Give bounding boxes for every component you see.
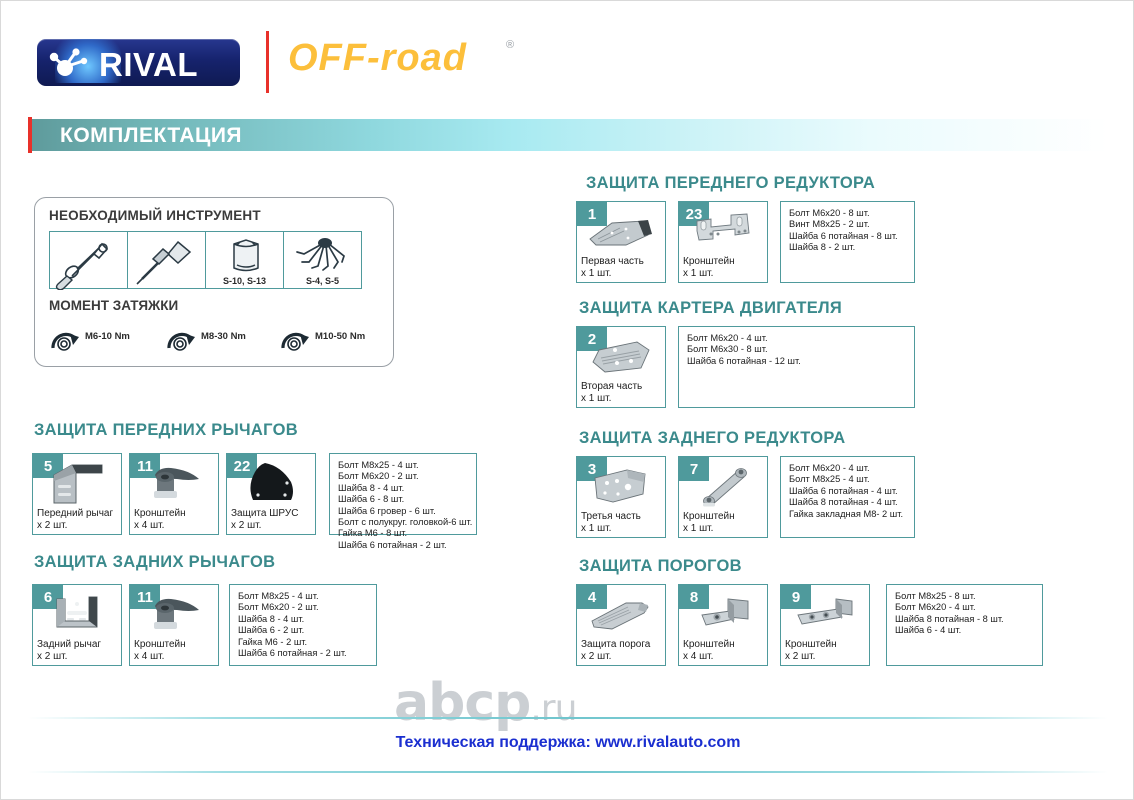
cam-bracket-icon (137, 592, 211, 636)
torque-m10-label: M10-50 Nm (315, 331, 365, 342)
hardware-line: Шайба 6 потайная - 2 шт. (338, 540, 476, 551)
tool-screwdriver (127, 231, 206, 289)
hardware-line: Болт M6x20 - 2 шт. (238, 602, 376, 613)
torque-m8: M8-30 Nm (165, 320, 199, 354)
part-card-8: 8 Кронштейнх 4 шт. (678, 584, 768, 666)
part-image-cam-bracket (130, 589, 218, 639)
screwdriver-icon (128, 232, 207, 290)
torque-m8-label: M8-30 Nm (201, 331, 246, 342)
hardware-line: Болт M6x20 - 8 шт. (789, 208, 914, 219)
section-title-front-arms: ЗАЩИТА ПЕРЕДНИХ РЫЧАГОВ (34, 421, 298, 440)
part-card-9: 9 Кронштейнх 2 шт. (780, 584, 870, 666)
hardware-line: Гайка M6 - 8 шт. (338, 528, 476, 539)
part-card-3: 3 Третья частьх 1 шт. (576, 456, 666, 538)
hardware-line: Шайба 6 потайная - 8 шт. (789, 231, 914, 242)
torque-m10: M10-50 Nm (279, 320, 313, 354)
molecule-icon (45, 45, 97, 81)
part-image-sill-guard (577, 589, 665, 639)
rival-logo: RIVAL (37, 39, 240, 86)
part-card-22: 22 Защита ШРУСх 2 шт. (226, 453, 316, 535)
part-caption: Кронштейнх 1 шт. (683, 511, 735, 534)
part-caption: Защита порогах 2 шт. (581, 639, 650, 662)
part-image-cv-joint-guard (227, 458, 315, 508)
section-title-engine-case: ЗАЩИТА КАРТЕРА ДВИГАТЕЛЯ (579, 299, 842, 318)
skid-plate-first-icon (582, 209, 660, 253)
watermark-main: abcp (394, 673, 530, 733)
tool-hexkeys-label: S-4, S-5 (284, 276, 361, 286)
part-card-4: 4 Защита порогах 2 шт. (576, 584, 666, 666)
part-card-5: 5 Передний рычагх 2 шт. (32, 453, 122, 535)
part-image-skid-plate-second (577, 331, 665, 381)
header-divider (266, 31, 269, 93)
rod-bracket-icon (686, 463, 760, 509)
hardware-line: Гайка M6 - 2 шт. (238, 637, 376, 648)
hardware-line: Шайба 8 - 4 шт. (338, 483, 476, 494)
hardware-line: Шайба 6 гровер - 6 шт. (338, 506, 476, 517)
sill-bracket-a-icon (686, 593, 760, 635)
part-image-skid-plate-third (577, 461, 665, 511)
section-banner: КОМПЛЕКТАЦИЯ (28, 119, 1108, 151)
part-image-rear-arm-bracket (33, 589, 121, 639)
part-image-cam-bracket (130, 458, 218, 508)
hardware-line: Шайба 6 - 2 шт. (238, 625, 376, 636)
section-title-front-gearbox: ЗАЩИТА ПЕРЕДНЕГО РЕДУКТОРА (586, 174, 875, 193)
part-caption: Кронштейнх 4 шт. (134, 639, 186, 662)
footer-rule-bottom (28, 771, 1108, 773)
rival-wordmark: RIVAL (99, 46, 198, 84)
part-card-2: 2 Вторая частьх 1 шт. (576, 326, 666, 408)
part-caption: Третья частьх 1 шт. (581, 511, 641, 534)
support-line: Техническая поддержка: www.rivalauto.com (1, 734, 1134, 752)
part-image-skid-plate-first (577, 206, 665, 256)
hardware-line: Болт M8x25 - 4 шт. (789, 474, 914, 485)
hardware-list-rear-gearbox: Болт M6x20 - 4 шт. Болт M8x25 - 4 шт. Ша… (780, 456, 915, 538)
hardware-list-sills: Болт M8x25 - 8 шт. Болт M6x20 - 4 шт. Ша… (886, 584, 1043, 666)
part-card-6: 6 Задний рычагх 2 шт. (32, 584, 122, 666)
tools-heading: НЕОБХОДИМЫЙ ИНСТРУМЕНТ (49, 208, 261, 223)
page-title: КОМПЛЕКТАЦИЯ (60, 124, 242, 148)
part-image-sill-bracket-b (781, 589, 869, 639)
hardware-line: Винт M8x25 - 2 шт. (789, 219, 914, 230)
hardware-line: Шайба 6 - 8 шт. (338, 494, 476, 505)
ratchet-wrench-icon (50, 232, 129, 290)
section-title-rear-arms: ЗАЩИТА ЗАДНИХ РЫЧАГОВ (34, 553, 275, 572)
tool-socket-label: S-10, S-13 (206, 276, 283, 286)
part-card-11-rear: 11 Кронштейнх 4 шт. (129, 584, 219, 666)
part-card-23: 23 Кронштейнх 1 шт. (678, 201, 768, 283)
skid-plate-third-icon (583, 464, 659, 508)
sill-bracket-b-icon (788, 593, 862, 635)
torque-arrow-icon (279, 320, 313, 352)
hardware-list-front-arms: Болт M8x25 - 4 шт. Болт M6x20 - 2 шт. Ша… (329, 453, 477, 535)
part-image-sill-bracket-a (679, 589, 767, 639)
hardware-line: Болт M8x25 - 8 шт. (895, 591, 1042, 602)
sill-guard-icon (582, 593, 660, 635)
hardware-line: Болт M6x20 - 4 шт. (789, 463, 914, 474)
part-caption: Кронштейнх 1 шт. (683, 256, 735, 279)
part-caption: Кронштейнх 4 шт. (134, 508, 186, 531)
tool-hex-keys: S-4, S-5 (283, 231, 362, 289)
part-image-u-bracket (679, 206, 767, 256)
hardware-line: Болт M8x25 - 4 шт. (338, 460, 476, 471)
hardware-line: Шайба 8 потайная - 8 шт. (895, 614, 1042, 625)
cv-joint-guard-icon (235, 460, 307, 506)
front-arm-bracket-icon (40, 459, 114, 507)
hardware-line: Болт M8x25 - 4 шт. (238, 591, 376, 602)
part-caption: Вторая частьх 1 шт. (581, 381, 642, 404)
torque-row: M6-10 Nm M8-30 Nm M10-50 Nm (49, 320, 383, 356)
tool-ratchet-wrench (49, 231, 128, 289)
hardware-list-rear-arms: Болт M8x25 - 4 шт. Болт M6x20 - 2 шт. Ша… (229, 584, 377, 666)
hardware-line: Шайба 6 потайная - 12 шт. (687, 356, 914, 367)
registered-mark: ® (506, 39, 514, 51)
part-caption: Кронштейнх 2 шт. (785, 639, 837, 662)
hardware-line: Шайба 6 потайная - 4 шт. (789, 486, 914, 497)
torque-m6-label: M6-10 Nm (85, 331, 130, 342)
torque-m6: M6-10 Nm (49, 320, 83, 354)
part-card-7: 7 Кронштейнх 1 шт. (678, 456, 768, 538)
watermark: abcp.ru (394, 673, 576, 733)
banner-accent-bar (28, 117, 32, 153)
u-bracket-icon (685, 209, 761, 253)
part-image-front-arm-bracket (33, 458, 121, 508)
torque-heading: МОМЕНТ ЗАТЯЖКИ (49, 298, 178, 313)
part-card-11-front: 11 Кронштейнх 4 шт. (129, 453, 219, 535)
hardware-line: Болт M6x20 - 4 шт. (895, 602, 1042, 613)
watermark-tld: .ru (530, 688, 576, 729)
hardware-line: Гайка закладная M8- 2 шт. (789, 509, 914, 520)
hardware-line: Болт M6x30 - 8 шт. (687, 344, 914, 355)
hardware-list-front-gearbox: Болт M6x20 - 8 шт. Винт M8x25 - 2 шт. Ша… (780, 201, 915, 283)
part-caption: Первая частьх 1 шт. (581, 256, 644, 279)
required-tools-panel: НЕОБХОДИМЫЙ ИНСТРУМЕНТ (34, 197, 394, 367)
footer-rule-top (28, 717, 1108, 719)
tool-socket: S-10, S-13 (205, 231, 284, 289)
part-caption: Кронштейнх 4 шт. (683, 639, 735, 662)
hardware-line: Шайба 8 - 2 шт. (789, 242, 914, 253)
torque-arrow-icon (49, 320, 83, 352)
section-title-rear-gearbox: ЗАЩИТА ЗАДНЕГО РЕДУКТОРА (579, 429, 845, 448)
part-caption: Передний рычагх 2 шт. (37, 508, 113, 531)
cam-bracket-icon (137, 461, 211, 505)
torque-arrow-icon (165, 320, 199, 352)
hardware-line: Болт M6x20 - 2 шт. (338, 471, 476, 482)
hardware-line: Болт M6x20 - 4 шт. (687, 333, 914, 344)
offroad-wordmark: OFF-road (288, 37, 467, 80)
tools-row: S-10, S-13 S-4, S-5 (49, 231, 361, 289)
part-image-rod-bracket (679, 461, 767, 511)
page-header: RIVAL OFF-road ® (1, 1, 1134, 109)
hardware-line: Болт с полукруг. головкой-6 шт. (338, 517, 476, 528)
part-caption: Задний рычагх 2 шт. (37, 639, 101, 662)
rear-arm-bracket-icon (41, 591, 113, 637)
hardware-line: Шайба 6 - 4 шт. (895, 625, 1042, 636)
hardware-line: Шайба 8 потайная - 4 шт. (789, 497, 914, 508)
catalog-page: RIVAL OFF-road ® КОМПЛЕКТАЦИЯ НЕОБХОДИМЫ… (0, 0, 1134, 800)
hardware-line: Шайба 6 потайная - 2 шт. (238, 648, 376, 659)
section-title-sills: ЗАЩИТА ПОРОГОВ (579, 557, 742, 576)
hardware-list-engine-case: Болт M6x20 - 4 шт. Болт M6x30 - 8 шт. Ша… (678, 326, 915, 408)
skid-plate-second-icon (583, 334, 659, 378)
hardware-line: Шайба 8 - 4 шт. (238, 614, 376, 625)
part-card-1: 1 Первая частьх 1 шт. (576, 201, 666, 283)
part-caption: Защита ШРУСх 2 шт. (231, 508, 298, 531)
